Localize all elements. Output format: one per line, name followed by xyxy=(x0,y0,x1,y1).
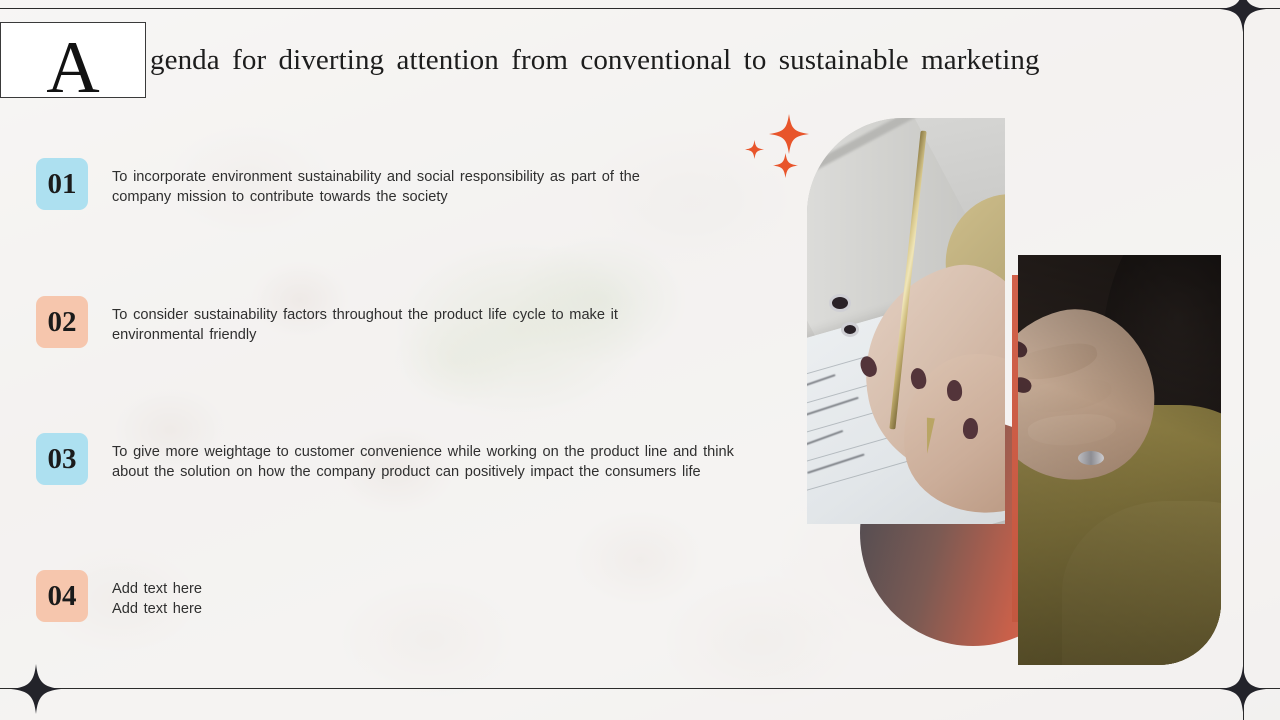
agenda-number-badge: 01 xyxy=(36,158,88,210)
agenda-item[interactable]: 03 To give more weightage to customer co… xyxy=(36,433,796,485)
agenda-item-text: To consider sustainability factors throu… xyxy=(112,296,618,345)
slide-canvas: A genda for diverting attention from con… xyxy=(0,0,1280,720)
agenda-item-text: To incorporate environment sustainabilit… xyxy=(112,158,640,207)
agenda-item-text: To give more weightage to customer conve… xyxy=(112,433,734,482)
agenda-item[interactable]: 04 Add text here Add text here xyxy=(36,570,796,622)
title-text: genda for diverting attention from conve… xyxy=(150,22,1240,98)
agenda-item[interactable]: 02 To consider sustainability factors th… xyxy=(36,296,796,348)
agenda-item[interactable]: 01 To incorporate environment sustainabi… xyxy=(36,158,796,210)
photo-person-olive-coat xyxy=(1018,255,1221,665)
agenda-number-badge: 02 xyxy=(36,296,88,348)
agenda-number-badge: 04 xyxy=(36,570,88,622)
agenda-text-line-2: about the solution on how the company pr… xyxy=(112,463,734,483)
slide-title: A genda for diverting attention from con… xyxy=(0,22,1243,98)
agenda-number-badge: 03 xyxy=(36,433,88,485)
agenda-item-text: Add text here Add text here xyxy=(112,570,202,619)
agenda-text-line-1: To consider sustainability factors throu… xyxy=(112,307,618,323)
sparkle-large-icon xyxy=(769,114,809,154)
agenda-text-line-1: To incorporate environment sustainabilit… xyxy=(112,169,640,185)
agenda-text-line-2: company mission to contribute towards th… xyxy=(112,188,640,208)
frame-line-bottom xyxy=(0,688,1280,689)
agenda-text-line-1: To give more weightage to customer conve… xyxy=(112,444,734,460)
title-initial-letter: A xyxy=(46,37,99,98)
agenda-text-line-2: environmental friendly xyxy=(112,326,618,346)
frame-line-top xyxy=(0,8,1280,9)
title-initial-box: A xyxy=(0,22,146,98)
frame-line-right xyxy=(1243,0,1244,720)
sparkle-small-icon xyxy=(745,140,764,159)
photo-hand-writing xyxy=(807,118,1005,524)
image-collage xyxy=(740,100,1240,680)
agenda-text-line-1: Add text here xyxy=(112,581,202,597)
agenda-text-line-2: Add text here xyxy=(112,600,202,620)
